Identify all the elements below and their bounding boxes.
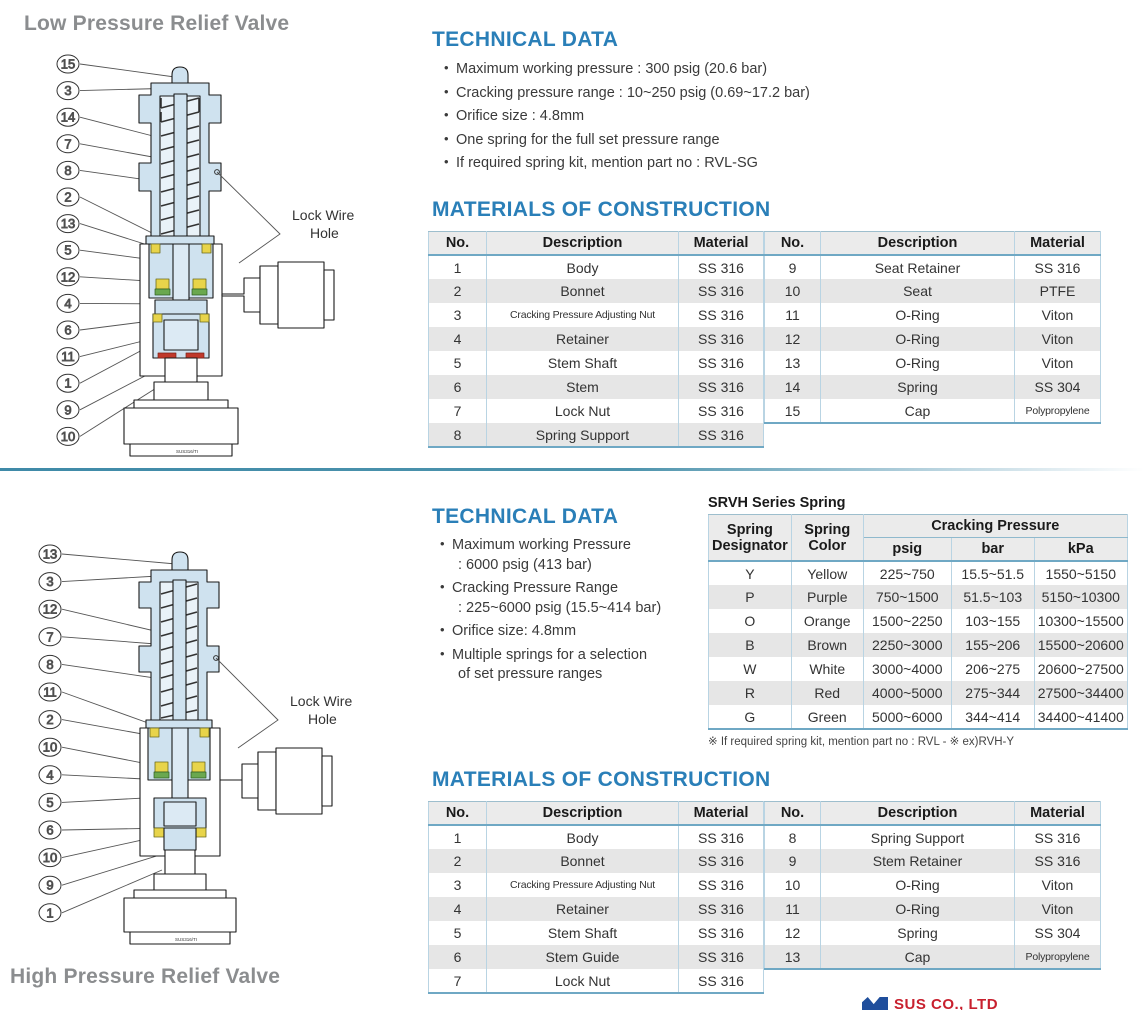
cell-material: SS 316	[679, 825, 764, 849]
cell-description: Seat	[821, 279, 1015, 303]
header-no: No.	[429, 232, 487, 256]
cell-bar: 275~344	[951, 681, 1034, 705]
technical-data-list-low: Maximum working pressure : 300 psig (20.…	[444, 62, 810, 180]
technical-data-item: : 6000 psig (413 bar)	[440, 558, 661, 573]
cell-no: 10	[765, 279, 821, 303]
table-row: 8Spring SupportSS 316	[765, 825, 1101, 849]
cell-material: SS 316	[679, 375, 764, 399]
cell-color: Green	[791, 705, 863, 729]
callout-number: 7	[64, 136, 71, 151]
table-header-row: No.DescriptionMaterial	[429, 802, 764, 826]
cell-material: SS 316	[679, 849, 764, 873]
cell-material: Viton	[1015, 897, 1101, 921]
callout-number: 12	[43, 602, 57, 617]
table-row: GGreen5000~6000344~41434400~41400	[709, 705, 1128, 729]
callout-number: 2	[64, 190, 71, 205]
materials-table-low: No.DescriptionMaterial 1BodySS 3162Bonne…	[428, 231, 1101, 448]
cell-psig: 225~750	[863, 561, 951, 585]
table-body: YYellow225~75015.5~51.51550~5150PPurple7…	[709, 561, 1128, 729]
table-row: 15CapPolypropylene	[765, 399, 1101, 423]
valve-diagram-high: 1331278112104561091	[36, 540, 406, 950]
callout-number: 9	[46, 878, 53, 893]
cell-description: Bonnet	[487, 849, 679, 873]
table-row: RRed4000~5000275~34427500~34400	[709, 681, 1128, 705]
cell-no: 9	[765, 255, 821, 279]
table-header-row: No.DescriptionMaterial	[765, 802, 1101, 826]
callout-number: 11	[43, 685, 57, 700]
table-row: 11O-RingViton	[765, 897, 1101, 921]
cell-no: 5	[429, 351, 487, 375]
cell-description: O-Ring	[821, 303, 1015, 327]
cell-no: 7	[429, 399, 487, 423]
spring-table-block: SRVH Series Spring Spring Designator Spr…	[708, 495, 1128, 748]
cell-material: Viton	[1015, 873, 1101, 897]
cell-material: Polypropylene	[1015, 945, 1101, 969]
cell-material: SS 316	[679, 897, 764, 921]
cell-psig: 1500~2250	[863, 609, 951, 633]
cell-material: SS 316	[679, 423, 764, 447]
cell-material: SS 316	[679, 873, 764, 897]
header-description: Description	[487, 802, 679, 826]
spring-table-title: SRVH Series Spring	[708, 495, 1128, 511]
cell-description: Bonnet	[487, 279, 679, 303]
cell-no: 11	[765, 897, 821, 921]
cell-material: Viton	[1015, 303, 1101, 327]
cell-kpa: 15500~20600	[1034, 633, 1127, 657]
cell-description: Lock Nut	[487, 399, 679, 423]
callout-number: 6	[64, 323, 71, 338]
cell-no: 12	[765, 327, 821, 351]
header-spring-designator: Spring Designator	[709, 515, 792, 562]
cell-no: 10	[765, 873, 821, 897]
cell-bar: 155~206	[951, 633, 1034, 657]
cell-description: O-Ring	[821, 873, 1015, 897]
header-cracking-pressure: Cracking Pressure	[863, 515, 1127, 538]
table-row: 12O-RingViton	[765, 327, 1101, 351]
cell-color: Red	[791, 681, 863, 705]
cell-material: SS 316	[1015, 825, 1101, 849]
header-psig: psig	[863, 538, 951, 562]
cell-kpa: 5150~10300	[1034, 585, 1127, 609]
cell-bar: 15.5~51.5	[951, 561, 1034, 585]
cell-description: Stem Retainer	[821, 849, 1015, 873]
technical-data-item: Orifice size : 4.8mm	[444, 109, 810, 124]
callout-number: 13	[43, 547, 57, 562]
cell-description: Cap	[821, 945, 1015, 969]
company-logo: SUS CO., LTD	[862, 996, 1142, 1010]
header-line2: Color	[808, 538, 846, 554]
cell-no: 5	[429, 921, 487, 945]
cell-bar: 344~414	[951, 705, 1034, 729]
cell-no: 8	[429, 423, 487, 447]
table-header-row: No.DescriptionMaterial	[765, 232, 1101, 256]
table-row: 6StemSS 316	[429, 375, 764, 399]
cell-psig: 750~1500	[863, 585, 951, 609]
table-row: 1BodySS 316	[429, 825, 764, 849]
cell-no: 2	[429, 849, 487, 873]
materials-heading-high: MATERIALS OF CONSTRUCTION	[432, 768, 770, 792]
cell-designator: R	[709, 681, 792, 705]
cell-material: SS 316	[679, 351, 764, 375]
callout-leader-line	[62, 576, 158, 582]
header-description: Description	[821, 232, 1015, 256]
callout-number: 10	[43, 850, 57, 865]
technical-data-item: : 225~6000 psig (15.5~414 bar)	[440, 601, 661, 616]
cell-color: White	[791, 657, 863, 681]
table-row: 8Spring SupportSS 316	[429, 423, 764, 447]
cell-description: Spring	[821, 921, 1015, 945]
cell-designator: B	[709, 633, 792, 657]
callout-number: 1	[64, 376, 71, 391]
cell-bar: 103~155	[951, 609, 1034, 633]
materials-table-low-right: No.DescriptionMaterial 9Seat RetainerSS …	[764, 231, 1101, 424]
technical-data-item: If required spring kit, mention part no …	[444, 156, 810, 171]
cell-description: Stem Shaft	[487, 351, 679, 375]
technical-data-item: of set pressure ranges	[440, 667, 661, 682]
technical-data-heading-low: TECHNICAL DATA	[432, 28, 618, 52]
cell-description: Cap	[821, 399, 1015, 423]
callout-number: 14	[61, 110, 75, 125]
cell-description: Stem Guide	[487, 945, 679, 969]
cell-description: O-Ring	[821, 351, 1015, 375]
cell-color: Purple	[791, 585, 863, 609]
cell-no: 3	[429, 873, 487, 897]
cell-kpa: 20600~27500	[1034, 657, 1127, 681]
callout-number: 1	[46, 905, 53, 920]
callout-number: 3	[64, 83, 71, 98]
cell-description: Retainer	[487, 327, 679, 351]
technical-data-list-high: Maximum working Pressure: 6000 psig (413…	[440, 538, 661, 691]
cell-no: 1	[429, 255, 487, 279]
materials-heading-low: MATERIALS OF CONSTRUCTION	[432, 198, 770, 222]
valve-diagram-low: 153147821351246111910	[54, 48, 414, 463]
cell-no: 11	[765, 303, 821, 327]
technical-data-item: Orifice size: 4.8mm	[440, 624, 661, 639]
cell-psig: 3000~4000	[863, 657, 951, 681]
valve-base-marking: SUS316/TI	[176, 449, 198, 454]
table-row: PPurple750~150051.5~1035150~10300	[709, 585, 1128, 609]
table-body: 1BodySS 3162BonnetSS 3163Cracking Pressu…	[429, 255, 764, 447]
cell-designator: Y	[709, 561, 792, 585]
technical-data-item: Maximum working Pressure	[440, 538, 661, 553]
callout-number: 3	[46, 574, 53, 589]
cell-description: Seat Retainer	[821, 255, 1015, 279]
lock-wire-hole-label-line1: Lock Wire	[292, 207, 354, 223]
table-row: 5Stem ShaftSS 316	[429, 351, 764, 375]
cell-no: 6	[429, 375, 487, 399]
table-row: 9Stem RetainerSS 316	[765, 849, 1101, 873]
cell-designator: G	[709, 705, 792, 729]
header-no: No.	[429, 802, 487, 826]
cell-description: Spring Support	[821, 825, 1015, 849]
srvh-spring-table: Spring Designator Spring Color Cracking …	[708, 514, 1128, 730]
cell-description: Cracking Pressure Adjusting Nut	[487, 873, 679, 897]
cell-material: SS 316	[679, 279, 764, 303]
callout-leader-line	[80, 144, 158, 158]
technical-data-heading-high: TECHNICAL DATA	[432, 505, 618, 529]
table-row: 10O-RingViton	[765, 873, 1101, 897]
cell-description: Spring	[821, 375, 1015, 399]
header-line2: Designator	[712, 538, 788, 554]
table-row: 4RetainerSS 316	[429, 897, 764, 921]
cell-psig: 4000~5000	[863, 681, 951, 705]
table-row: 13O-RingViton	[765, 351, 1101, 375]
cell-description: Stem Shaft	[487, 921, 679, 945]
cell-material: SS 316	[679, 399, 764, 423]
cell-no: 2	[429, 279, 487, 303]
header-spring-color: Spring Color	[791, 515, 863, 562]
table-row: 7Lock NutSS 316	[429, 969, 764, 993]
header-material: Material	[1015, 232, 1101, 256]
valve-base-marking: SUS316/TI	[175, 937, 197, 942]
callout-number: 10	[43, 740, 57, 755]
callout-number: 2	[46, 712, 53, 727]
callout-leader-line	[62, 554, 176, 564]
cell-description: Stem	[487, 375, 679, 399]
table-row: 14SpringSS 304	[765, 375, 1101, 399]
cell-color: Yellow	[791, 561, 863, 585]
table-row: 2BonnetSS 316	[429, 849, 764, 873]
table-row: 6Stem GuideSS 316	[429, 945, 764, 969]
cell-no: 1	[429, 825, 487, 849]
spring-table-footnote: ※ If required spring kit, mention part n…	[708, 734, 1128, 748]
cell-description: Cracking Pressure Adjusting Nut	[487, 303, 679, 327]
cell-description: O-Ring	[821, 897, 1015, 921]
table-row: 10SeatPTFE	[765, 279, 1101, 303]
technical-data-item: Cracking Pressure Range	[440, 581, 661, 596]
section-divider	[0, 468, 1144, 471]
header-line1: Spring	[804, 522, 850, 538]
cell-no: 7	[429, 969, 487, 993]
table-row: YYellow225~75015.5~51.51550~5150	[709, 561, 1128, 585]
callout-number: 9	[64, 402, 71, 417]
cell-kpa: 1550~5150	[1034, 561, 1127, 585]
cell-description: O-Ring	[821, 327, 1015, 351]
lock-wire-hole-label-line1: Lock Wire	[290, 693, 352, 709]
materials-table-high: No.DescriptionMaterial 1BodySS 3162Bonne…	[428, 801, 1101, 994]
cell-material: SS 304	[1015, 921, 1101, 945]
table-row: 9Seat RetainerSS 316	[765, 255, 1101, 279]
cell-material: Viton	[1015, 351, 1101, 375]
logo-mark-icon	[862, 997, 888, 1010]
table-row: OOrange1500~2250103~15510300~15500	[709, 609, 1128, 633]
table-row: 3Cracking Pressure Adjusting NutSS 316	[429, 873, 764, 897]
cell-psig: 2250~3000	[863, 633, 951, 657]
header-line1: Spring	[727, 522, 773, 538]
cell-designator: W	[709, 657, 792, 681]
cell-no: 6	[429, 945, 487, 969]
cell-kpa: 34400~41400	[1034, 705, 1127, 729]
cell-description: Spring Support	[487, 423, 679, 447]
callout-leader-line	[80, 348, 146, 383]
materials-table-high-right: No.DescriptionMaterial 8Spring SupportSS…	[764, 801, 1101, 970]
cell-no: 14	[765, 375, 821, 399]
cell-no: 15	[765, 399, 821, 423]
table-body: 8Spring SupportSS 3169Stem RetainerSS 31…	[765, 825, 1101, 969]
header-material: Material	[1015, 802, 1101, 826]
cell-material: SS 316	[1015, 255, 1101, 279]
cell-color: Orange	[791, 609, 863, 633]
cell-no: 13	[765, 945, 821, 969]
table-header-row: No.DescriptionMaterial	[429, 232, 764, 256]
cell-material: SS 316	[1015, 849, 1101, 873]
callout-number: 10	[61, 429, 75, 444]
cell-no: 12	[765, 921, 821, 945]
cell-material: SS 316	[679, 969, 764, 993]
callout-leader-line	[62, 637, 156, 644]
table-row: WWhite3000~4000206~27520600~27500	[709, 657, 1128, 681]
cell-material: SS 316	[679, 255, 764, 279]
low-pressure-section: Low Pressure Relief Valve 15314782135124…	[0, 0, 1144, 470]
cell-description: Retainer	[487, 897, 679, 921]
cell-description: Lock Nut	[487, 969, 679, 993]
cell-no: 13	[765, 351, 821, 375]
lock-wire-hole-label-line2: Hole	[308, 711, 337, 727]
logo-text: SUS CO., LTD	[894, 996, 998, 1010]
cell-no: 4	[429, 897, 487, 921]
cell-designator: P	[709, 585, 792, 609]
page-title-low: Low Pressure Relief Valve	[24, 12, 289, 36]
callout-number: 4	[64, 296, 71, 311]
table-header-row-top: Spring Designator Spring Color Cracking …	[709, 515, 1128, 538]
callout-number: 8	[46, 657, 53, 672]
table-row: 12SpringSS 304	[765, 921, 1101, 945]
cell-material: Viton	[1015, 327, 1101, 351]
callout-leader-line	[80, 64, 182, 78]
cell-material: SS 316	[679, 921, 764, 945]
table-row: 3Cracking Pressure Adjusting NutSS 316	[429, 303, 764, 327]
cell-psig: 5000~6000	[863, 705, 951, 729]
cell-bar: 51.5~103	[951, 585, 1034, 609]
cell-kpa: 10300~15500	[1034, 609, 1127, 633]
table-row: 2BonnetSS 316	[429, 279, 764, 303]
header-kpa: kPa	[1034, 538, 1127, 562]
callout-number: 5	[46, 795, 53, 810]
callout-number: 12	[61, 269, 75, 284]
page-title-high: High Pressure Relief Valve	[10, 965, 280, 989]
cell-material: Polypropylene	[1015, 399, 1101, 423]
header-material: Material	[679, 232, 764, 256]
technical-data-item: Cracking pressure range : 10~250 psig (0…	[444, 86, 810, 101]
table-row: 5Stem ShaftSS 316	[429, 921, 764, 945]
cell-material: SS 316	[679, 945, 764, 969]
callout-number: 7	[46, 629, 53, 644]
callout-number: 4	[46, 767, 53, 782]
cell-description: Body	[487, 255, 679, 279]
cell-no: 8	[765, 825, 821, 849]
callout-number: 8	[64, 163, 71, 178]
cell-no: 4	[429, 327, 487, 351]
callout-number: 11	[61, 349, 75, 364]
technical-data-item: Multiple springs for a selection	[440, 648, 661, 663]
callout-number: 15	[61, 57, 75, 72]
header-description: Description	[487, 232, 679, 256]
table-row: 13CapPolypropylene	[765, 945, 1101, 969]
materials-table-high-left: No.DescriptionMaterial 1BodySS 3162Bonne…	[428, 801, 764, 994]
cell-material: PTFE	[1015, 279, 1101, 303]
cell-kpa: 27500~34400	[1034, 681, 1127, 705]
header-bar: bar	[951, 538, 1034, 562]
cell-material: SS 316	[679, 327, 764, 351]
header-no: No.	[765, 232, 821, 256]
callout-number: 6	[46, 823, 53, 838]
table-body: 9Seat RetainerSS 31610SeatPTFE11O-RingVi…	[765, 255, 1101, 423]
cell-material: SS 316	[679, 303, 764, 327]
cell-bar: 206~275	[951, 657, 1034, 681]
table-body: 1BodySS 3162BonnetSS 3163Cracking Pressu…	[429, 825, 764, 993]
callout-number: 5	[64, 243, 71, 258]
header-description: Description	[821, 802, 1015, 826]
technical-data-item: One spring for the full set pressure ran…	[444, 133, 810, 148]
technical-data-item: Maximum working pressure : 300 psig (20.…	[444, 62, 810, 77]
cell-no: 9	[765, 849, 821, 873]
table-row: 1BodySS 316	[429, 255, 764, 279]
cell-no: 3	[429, 303, 487, 327]
materials-table-low-left: No.DescriptionMaterial 1BodySS 3162Bonne…	[428, 231, 764, 448]
header-no: No.	[765, 802, 821, 826]
cell-material: SS 304	[1015, 375, 1101, 399]
table-row: 7Lock NutSS 316	[429, 399, 764, 423]
table-row: 4RetainerSS 316	[429, 327, 764, 351]
cell-color: Brown	[791, 633, 863, 657]
table-row: 11O-RingViton	[765, 303, 1101, 327]
table-row: BBrown2250~3000155~20615500~20600	[709, 633, 1128, 657]
header-material: Material	[679, 802, 764, 826]
lock-wire-hole-label-line2: Hole	[310, 225, 339, 241]
callout-number: 13	[61, 216, 75, 231]
cell-description: Body	[487, 825, 679, 849]
cell-designator: O	[709, 609, 792, 633]
high-pressure-section: High Pressure Relief Valve 1331278112104…	[0, 478, 1144, 1009]
